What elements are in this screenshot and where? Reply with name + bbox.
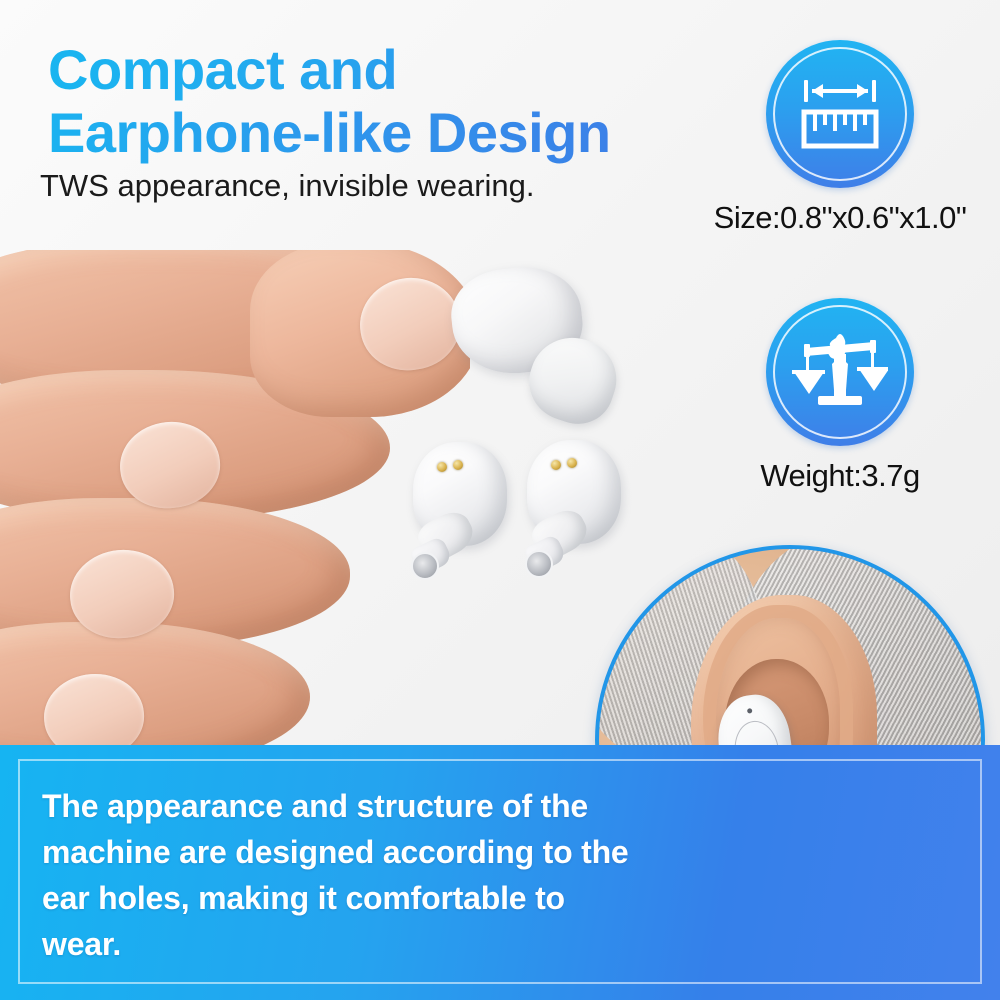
weight-label: Weight:3.7g bbox=[690, 458, 990, 494]
size-label: Size:0.8"x0.6"x1.0" bbox=[690, 200, 990, 236]
headline-block: Compact and Earphone-like Design bbox=[48, 38, 708, 165]
charging-pin bbox=[437, 462, 447, 472]
banner-text: The appearance and structure of the mach… bbox=[42, 783, 632, 967]
balance-scale-icon bbox=[792, 324, 888, 420]
headline-line-1: Compact and bbox=[48, 38, 708, 101]
size-badge bbox=[766, 40, 914, 188]
bottom-caption-banner: The appearance and structure of the mach… bbox=[0, 745, 1000, 1000]
charging-pin bbox=[453, 460, 463, 470]
spec-weight: Weight:3.7g bbox=[690, 298, 990, 494]
spec-size: Size:0.8"x0.6"x1.0" bbox=[690, 40, 990, 236]
weight-badge bbox=[766, 298, 914, 446]
ruler-icon bbox=[794, 68, 886, 160]
product-feature-poster: Compact and Earphone-like Design TWS app… bbox=[0, 0, 1000, 1000]
hand-holding-device-photo bbox=[0, 250, 470, 750]
earbud-right bbox=[527, 440, 621, 548]
headline-line-2: Earphone-like Design bbox=[48, 101, 708, 164]
charging-pin bbox=[551, 460, 561, 470]
speaker-mesh bbox=[411, 552, 439, 580]
charging-pin bbox=[567, 458, 577, 468]
earbud-left bbox=[413, 442, 507, 550]
subtitle: TWS appearance, invisible wearing. bbox=[40, 168, 535, 204]
speaker-mesh bbox=[525, 550, 553, 578]
